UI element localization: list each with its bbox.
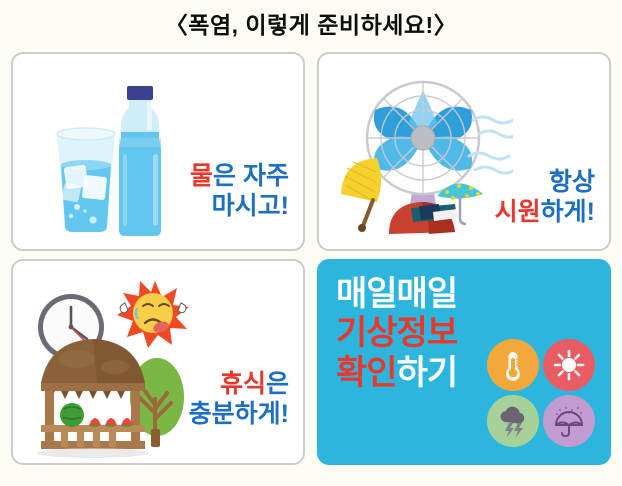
caption-line-2: 시원하게!	[495, 198, 595, 228]
rain-umbrella-glyph	[553, 405, 585, 437]
caption-take-rest: 휴식은 충분하게!	[189, 370, 289, 429]
rain-umbrella-icon[interactable]	[543, 395, 595, 447]
caption-drink-water: 물은 자주 마시고!	[190, 162, 289, 221]
caption-highlight: 시원	[495, 198, 541, 226]
thermometer-glyph	[498, 349, 528, 381]
caption-highlight: 물	[190, 162, 213, 190]
info-rest: 하기	[397, 354, 458, 392]
caption-line-2: 마시고!	[190, 192, 289, 222]
info-line-1: 매일매일	[336, 275, 457, 314]
info-line-3: 확인하기	[336, 354, 457, 393]
weather-icon-grid	[487, 339, 595, 447]
caption-line-1: 휴식은	[189, 370, 289, 400]
caption-line-2: 충분하게!	[189, 400, 289, 430]
info-highlight: 확인	[336, 354, 397, 392]
page-title: 〈폭염, 이렇게 준비하세요!〉	[165, 6, 457, 40]
thermometer-icon[interactable]	[487, 339, 539, 391]
electric-fan-hand-fan-parasol-hat-illustration	[333, 76, 513, 244]
check-weather-text: 매일매일 기상정보 확인하기	[336, 275, 457, 393]
sun-glyph	[553, 349, 585, 381]
caption-line-1: 물은 자주	[190, 162, 289, 192]
thunderstorm-icon[interactable]	[487, 395, 539, 447]
caption-rest: 은 자주	[213, 162, 289, 190]
page-title-bar: 〈폭염, 이렇게 준비하세요!〉	[0, 0, 622, 46]
water-glass-and-bottle-illustration	[35, 80, 175, 240]
sun-icon[interactable]	[543, 339, 595, 391]
caption-highlight: 휴식	[220, 370, 266, 398]
thunderstorm-glyph	[496, 404, 530, 438]
caption-line-1: 항상	[495, 168, 595, 198]
info-line-2: 기상정보	[336, 314, 457, 353]
panel-grid: 물은 자주 마시고!	[11, 52, 611, 477]
panel-stay-cool: 항상 시원하게!	[317, 52, 611, 251]
panel-take-rest: 휴식은 충분하게!	[11, 259, 305, 465]
panel-drink-water: 물은 자주 마시고!	[11, 52, 305, 251]
panel-check-weather: 매일매일 기상정보 확인하기	[317, 259, 611, 465]
caption-stay-cool: 항상 시원하게!	[495, 168, 595, 227]
caption-rest: 은	[266, 370, 289, 398]
clock-pavilion-tree-hot-sun-illustration	[27, 279, 222, 459]
caption-rest: 하게!	[541, 198, 595, 226]
